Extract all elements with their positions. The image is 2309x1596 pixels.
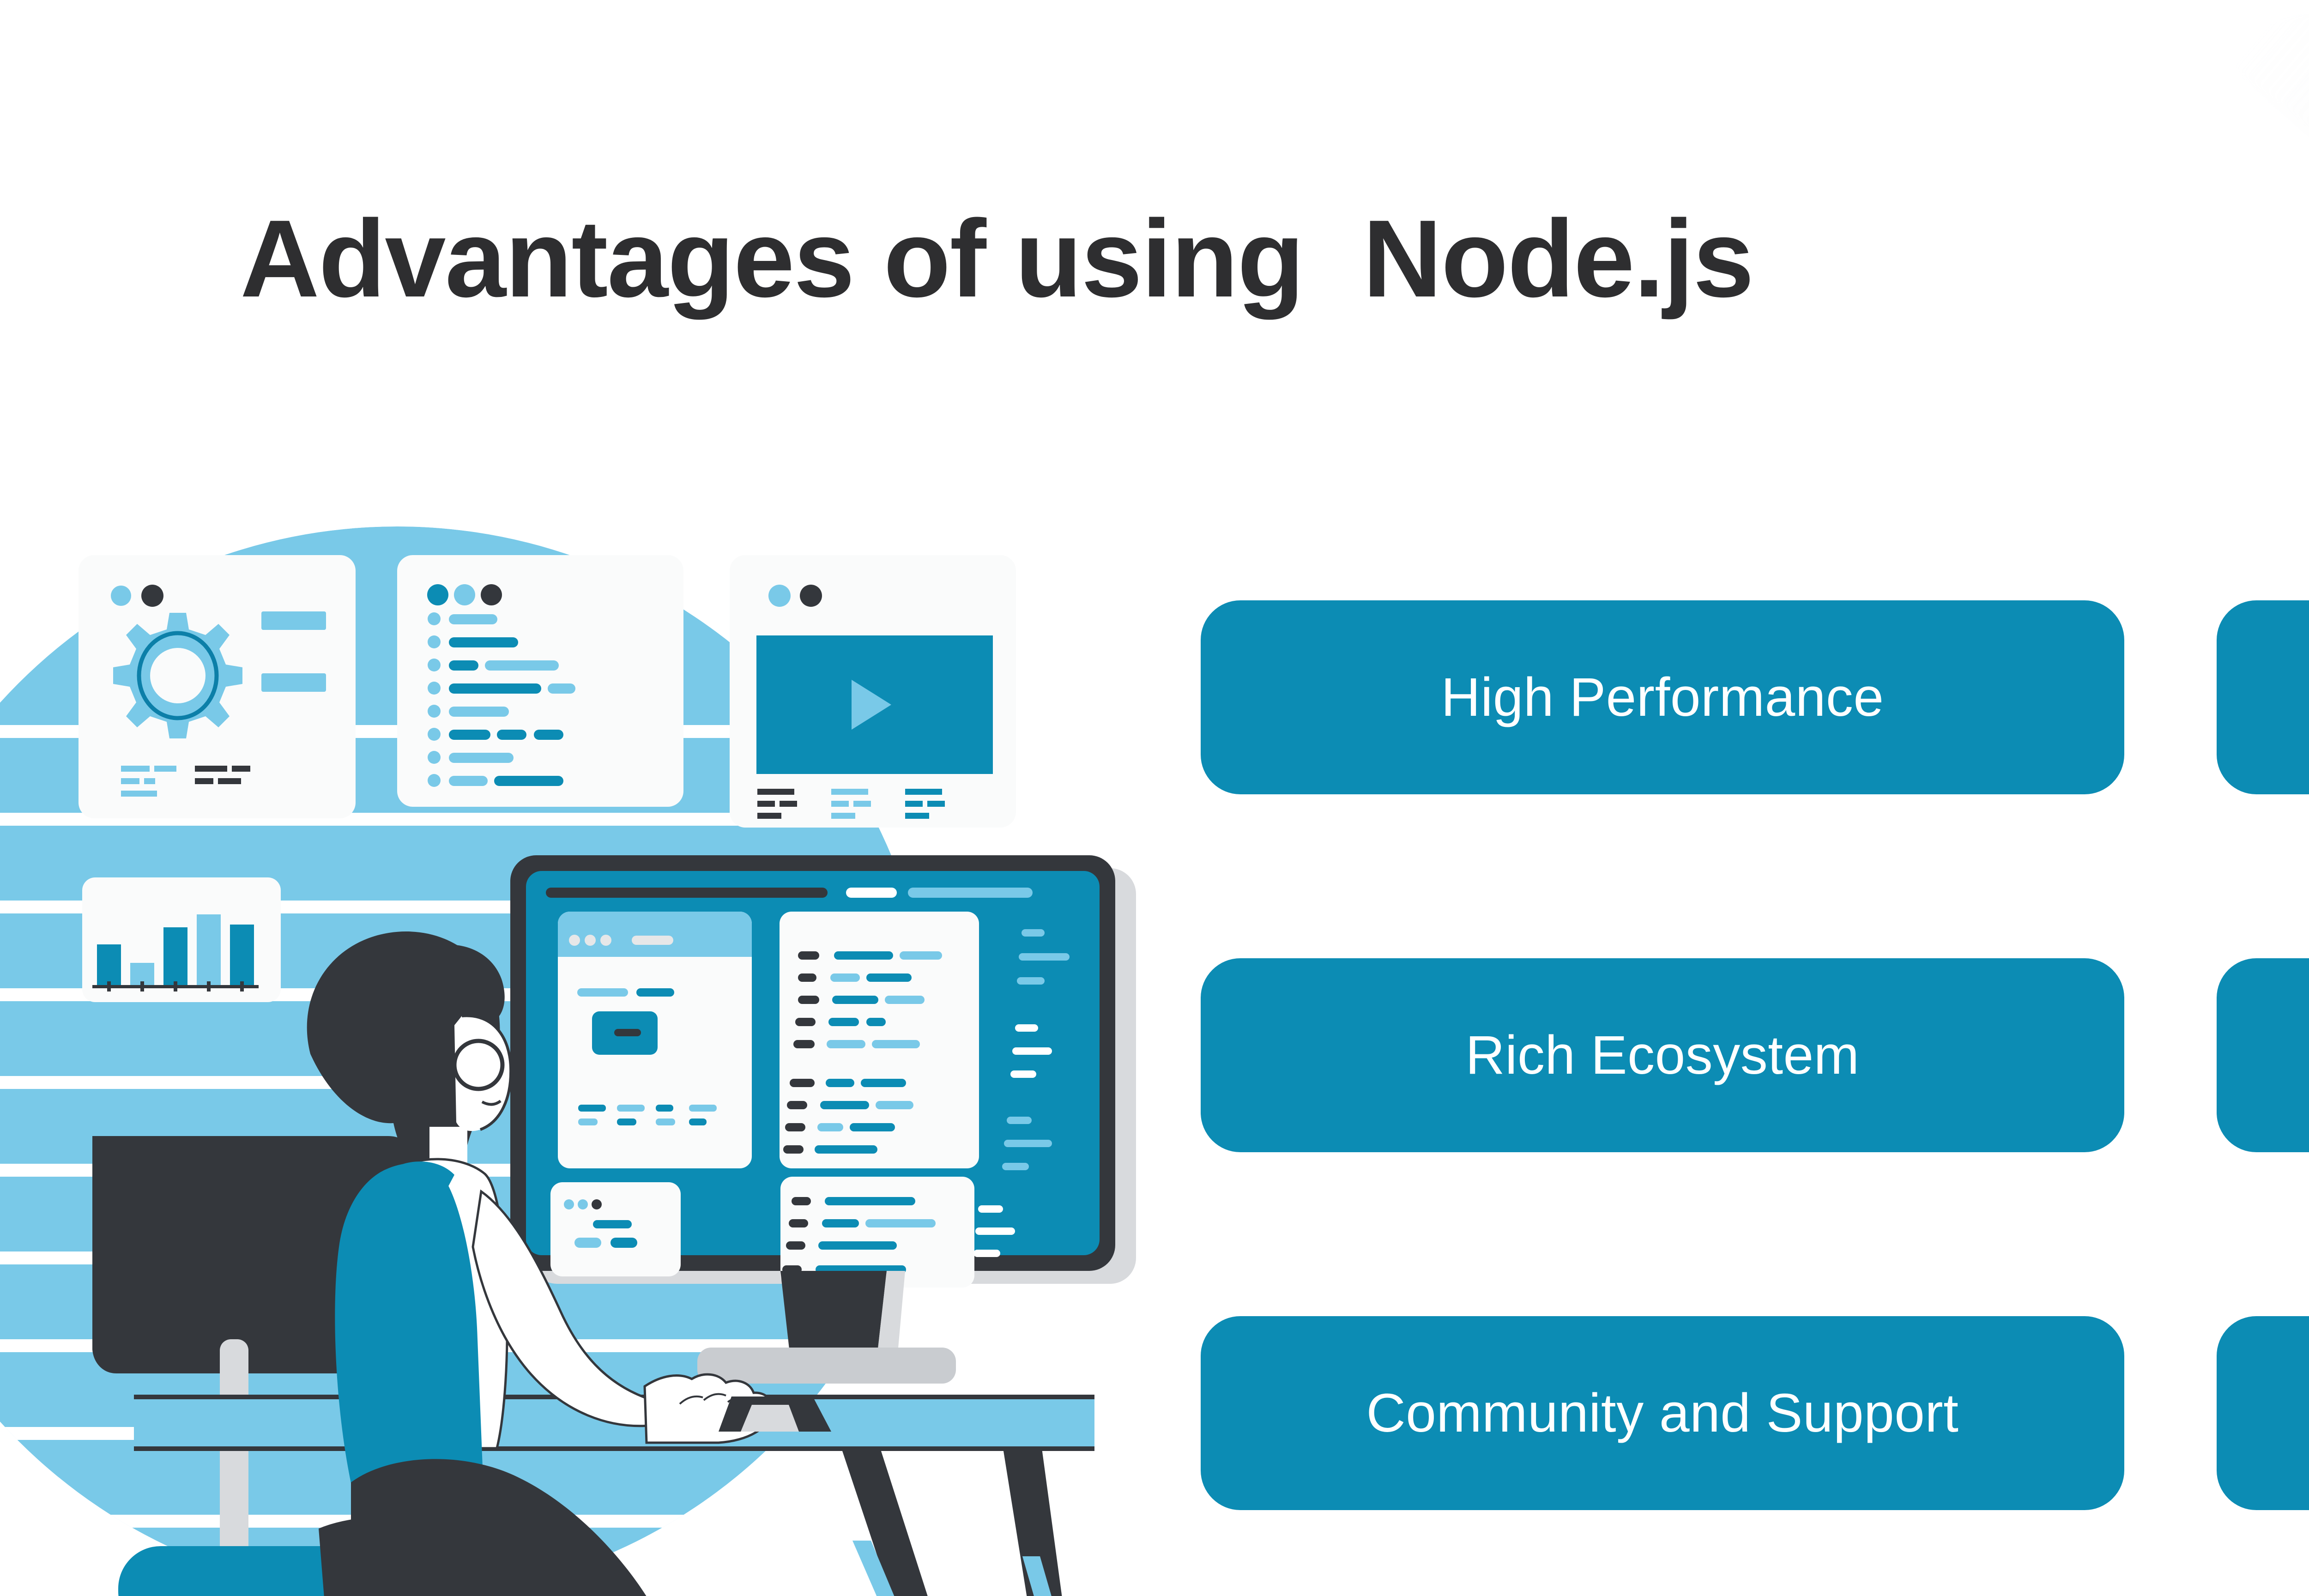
advantage-pill-high-performance[interactable]: High Performance [1201,600,2124,794]
advantage-pill-quick-development-cycle[interactable]: Quick Development Cycle [2217,958,2309,1152]
slide-root: INFOBEST Advantages of using Node.js [0,0,2309,1596]
advantages-grid: High Performance Scalability Rich Ecosys… [1201,600,2309,1519]
advantage-pill-community-and-support[interactable]: Community and Support [1201,1316,2124,1510]
floating-card-barchart [82,877,281,1002]
floating-card-video [730,555,1016,828]
page-curl-decoration [2028,0,2309,656]
advantage-pill-scalability[interactable]: Scalability [2217,600,2309,794]
developer-at-desk-illustration [0,526,1154,1596]
page-title: Advantages of using Node.js [240,199,1753,320]
advantage-pill-rich-ecosystem[interactable]: Rich Ecosystem [1201,958,2124,1152]
floating-card-settings [79,555,356,818]
floating-card-code [397,555,683,807]
advantage-pill-cross-platform-compatibility[interactable]: Cross-Platform Compatibility [2217,1316,2309,1510]
